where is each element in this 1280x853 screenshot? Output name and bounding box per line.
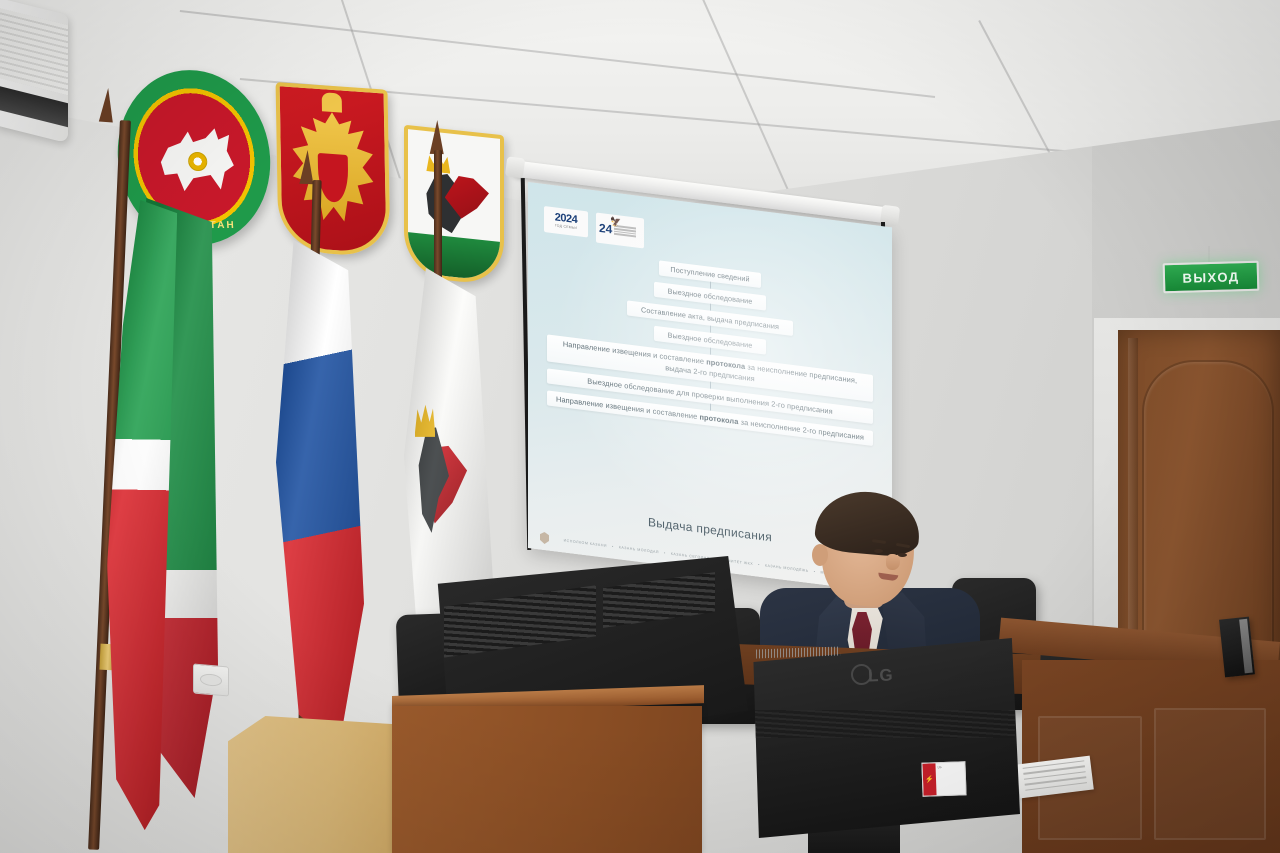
desk-front-left — [392, 706, 702, 853]
exit-sign-label: ВЫХОД — [1182, 269, 1240, 285]
conference-room-photo: ТАТАРСТАН 20 — [0, 0, 1280, 853]
emblem-russia — [276, 82, 391, 258]
crown-icon — [321, 92, 342, 113]
year-of-family-logo: 2024 ГОД СЕМЬИ — [544, 206, 588, 237]
monitor-right-rear: LG ⚡ LG — [748, 638, 1020, 838]
flow-step-post: за неисполнение 2-го предписания — [738, 418, 864, 443]
flow-step-post: за неисполнение предписания, выдача 2-го… — [665, 362, 857, 385]
desk-front-right — [1022, 660, 1280, 853]
footer-item: КАЗАНЬ МОЛОДАЯ — [619, 545, 659, 554]
bird-icon: 🦅 — [610, 216, 621, 228]
nose — [886, 554, 900, 570]
monitor-label-text: LG — [936, 762, 966, 795]
exit-sign: ВЫХОД — [1163, 261, 1260, 294]
footer-item: ИСПОЛКОМ КАЗАНИ — [564, 538, 607, 547]
eye — [898, 553, 907, 557]
crown-icon — [415, 400, 436, 437]
emblem-kazan — [404, 125, 504, 287]
eye — [874, 549, 883, 553]
flow-step-bold: протокола — [699, 413, 738, 427]
slide-logos: 2024 ГОД СЕМЬИ 24 — [544, 206, 644, 248]
lg-brand-label: LG — [867, 665, 893, 686]
warning-bolt-icon: ⚡ — [923, 763, 937, 795]
flagpole-tip — [99, 88, 115, 123]
podium — [228, 716, 398, 853]
air-conditioner-icon — [0, 0, 68, 143]
flagpole-tip — [430, 120, 445, 154]
desk-speaker — [1219, 617, 1255, 678]
power-outlet[interactable] — [193, 663, 229, 696]
year-badge-caption: ГОД СЕМЬИ — [555, 225, 577, 231]
ear — [812, 544, 828, 566]
monitor-warning-label: ⚡ LG — [921, 761, 966, 797]
flagpole-tip — [299, 150, 314, 184]
hair — [813, 488, 922, 559]
sun-rosette-icon — [188, 152, 208, 171]
flowchart: Поступление сведений Выездное обследован… — [528, 244, 892, 449]
